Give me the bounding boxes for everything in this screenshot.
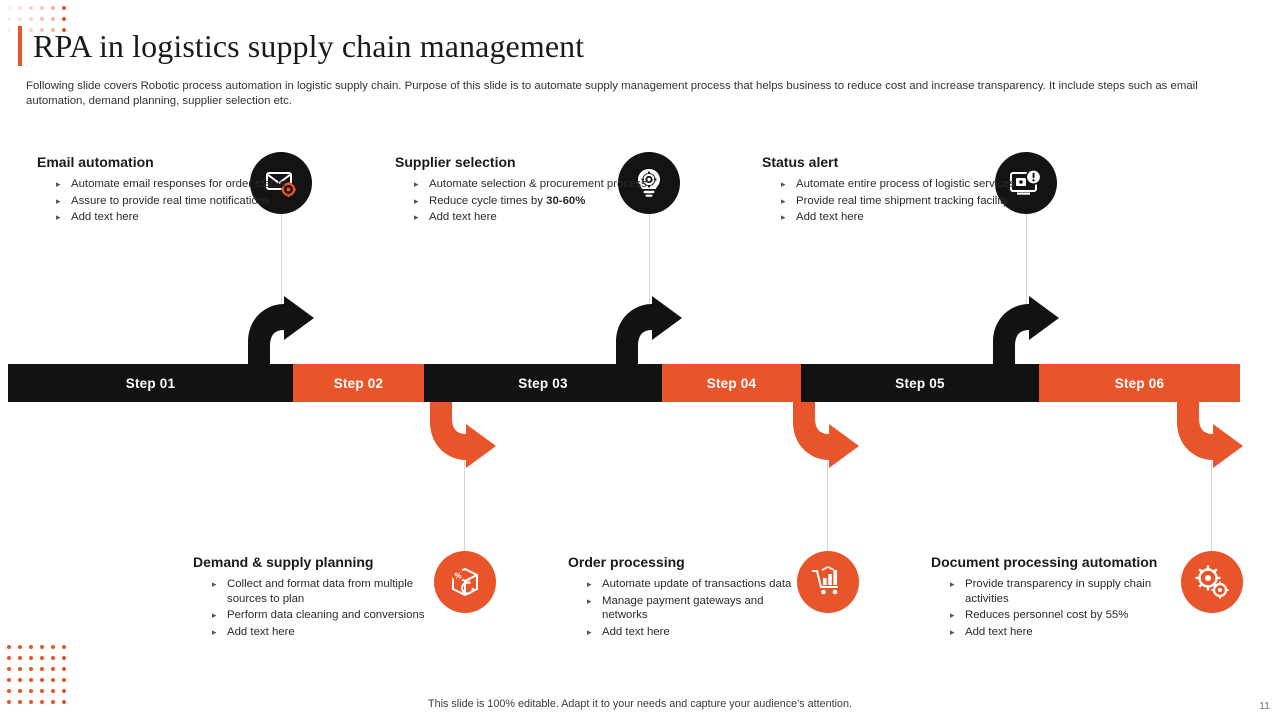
page-title: RPA in logistics supply chain management xyxy=(33,28,584,65)
block-document-processing-automation: Document processing automation Provide t… xyxy=(931,554,1181,641)
cart-chart-icon-circle xyxy=(797,551,859,613)
block-document-processing-automation-title: Document processing automation xyxy=(931,554,1181,570)
slide: RPA in logistics supply chain management… xyxy=(0,0,1280,720)
block-status-alert: Status alert Automate entire process of … xyxy=(762,154,1037,227)
bold-metric: 30-60% xyxy=(546,195,585,207)
list-item: Provide real time shipment tracking faci… xyxy=(777,194,1037,209)
list-item: Reduces personnel cost by 55% xyxy=(946,608,1181,623)
block-document-processing-automation-list: Provide transparency in supply chain act… xyxy=(946,577,1181,639)
block-supplier-selection: Supplier selection Automate selection & … xyxy=(395,154,670,227)
block-status-alert-list: Automate entire process of logistic serv… xyxy=(777,177,1037,225)
box-refresh-icon-circle: % xyxy=(434,551,496,613)
block-demand-supply-planning-list: Collect and format data from multiple so… xyxy=(208,577,443,639)
list-item-with-bold: Reduce cycle times by 30-60% xyxy=(410,194,670,209)
list-item: Add text here xyxy=(410,210,670,225)
decorative-dots-bottom-left xyxy=(7,645,66,704)
block-order-processing: Order processing Automate update of tran… xyxy=(568,554,800,641)
list-item: Add text here xyxy=(946,625,1181,640)
timeline-step-03[interactable]: Step 03 xyxy=(424,364,662,402)
timeline-step-03-label: Step 03 xyxy=(518,376,567,391)
list-item: Manage payment gateways and networks xyxy=(583,594,800,623)
block-order-processing-title: Order processing xyxy=(568,554,800,570)
timeline-step-06[interactable]: Step 06 xyxy=(1039,364,1240,402)
block-status-alert-title: Status alert xyxy=(762,154,1037,170)
list-item: Automate update of transactions data xyxy=(583,577,800,592)
block-supplier-selection-list: Automate selection & procurement process… xyxy=(410,177,670,225)
block-email-automation-title: Email automation xyxy=(37,154,312,170)
timeline-step-04-label: Step 04 xyxy=(707,376,756,391)
list-item: Assure to provide real time notification… xyxy=(52,194,312,209)
block-demand-supply-planning: Demand & supply planning Collect and for… xyxy=(193,554,443,641)
timeline-band: Step 01 Step 02 Step 03 Step 04 Step 05 … xyxy=(8,364,1240,402)
block-email-automation-list: Automate email responses for order statu… xyxy=(52,177,312,225)
box-refresh-icon: % xyxy=(447,564,483,600)
block-demand-supply-planning-title: Demand & supply planning xyxy=(193,554,443,570)
list-item: Provide transparency in supply chain act… xyxy=(946,577,1181,606)
timeline-step-01[interactable]: Step 01 xyxy=(8,364,293,402)
gears-icon xyxy=(1193,563,1231,601)
slide-subtitle: Following slide covers Robotic process a… xyxy=(26,79,1236,109)
list-item: Automate entire process of logistic serv… xyxy=(777,177,1037,192)
list-item: Add text here xyxy=(52,210,312,225)
timeline-step-05[interactable]: Step 05 xyxy=(801,364,1039,402)
page-number: 11 xyxy=(1259,700,1270,712)
editable-note: This slide is 100% editable. Adapt it to… xyxy=(0,698,1280,710)
timeline-step-02-label: Step 02 xyxy=(334,376,383,391)
gears-icon-circle xyxy=(1181,551,1243,613)
list-item: Add text here xyxy=(583,625,800,640)
timeline-step-02[interactable]: Step 02 xyxy=(293,364,424,402)
title-bar: RPA in logistics supply chain management xyxy=(18,26,584,66)
timeline-step-04[interactable]: Step 04 xyxy=(662,364,801,402)
list-item: Automate selection & procurement process xyxy=(410,177,670,192)
list-item: Add text here xyxy=(208,625,443,640)
list-item: Add text here xyxy=(777,210,1037,225)
svg-text:%: % xyxy=(454,572,461,581)
list-item: Collect and format data from multiple so… xyxy=(208,577,443,606)
timeline-step-06-label: Step 06 xyxy=(1115,376,1164,391)
block-email-automation: Email automation Automate email response… xyxy=(37,154,312,227)
block-supplier-selection-title: Supplier selection xyxy=(395,154,670,170)
list-item: Perform data cleaning and conversions xyxy=(208,608,443,623)
block-order-processing-list: Automate update of transactions data Man… xyxy=(583,577,800,639)
title-accent-rule xyxy=(18,26,22,66)
list-item: Automate email responses for order statu… xyxy=(52,177,312,192)
timeline-step-05-label: Step 05 xyxy=(895,376,944,391)
cart-chart-icon xyxy=(810,564,846,600)
timeline-step-01-label: Step 01 xyxy=(126,376,175,391)
